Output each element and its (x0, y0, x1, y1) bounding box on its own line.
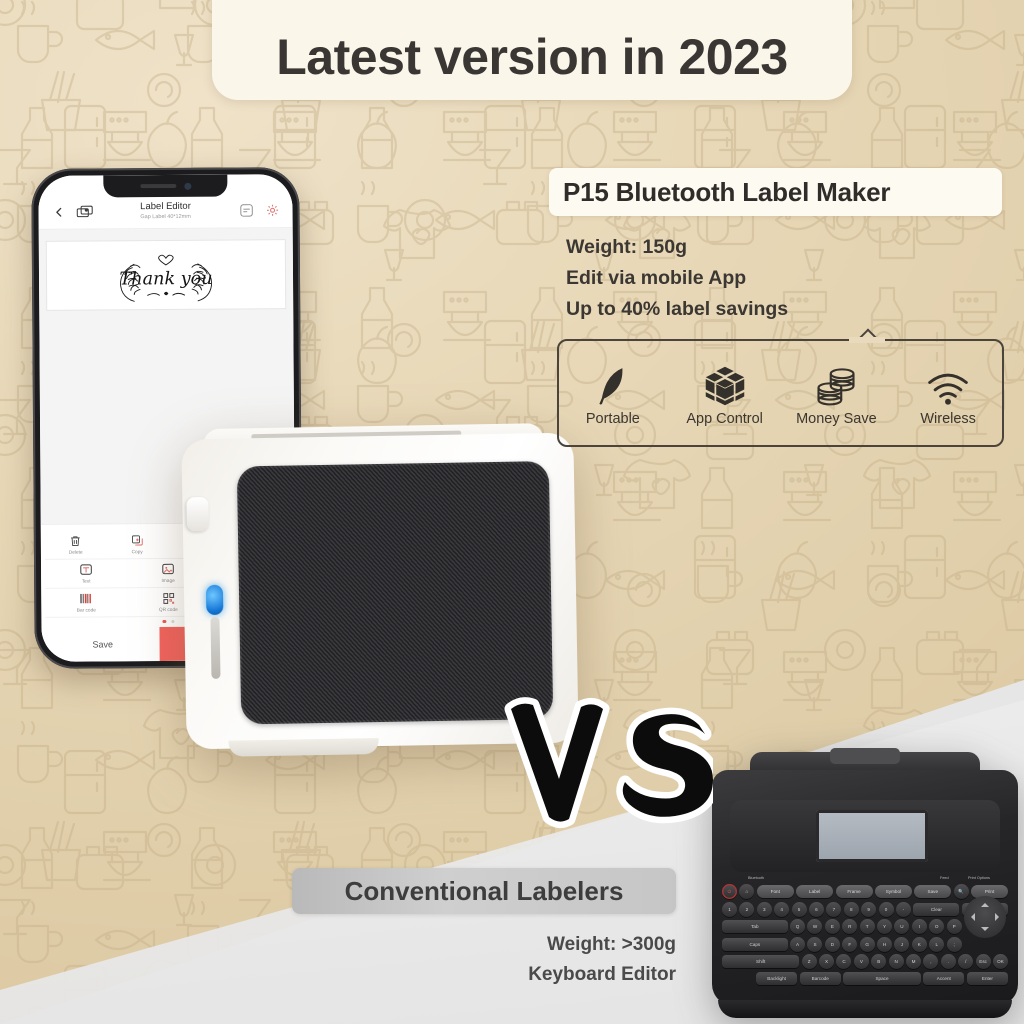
key-caps[interactable]: Caps (722, 938, 788, 951)
template-icon[interactable] (236, 200, 256, 220)
conventional-title-banner: Conventional Labelers (292, 868, 676, 914)
product-title-banner: P15 Bluetooth Label Maker (549, 168, 1002, 216)
printer-side-strip (210, 617, 220, 679)
home-icon[interactable]: ⌂ (739, 884, 754, 899)
printer-power-led-button (206, 585, 224, 615)
key-6[interactable]: 6 (809, 902, 824, 917)
headline-text: Latest version in 2023 (276, 28, 787, 86)
printer-side-latch (186, 497, 209, 531)
page-dot-active[interactable] (162, 620, 166, 624)
labeler-function-row: ⏻ ⌂ Font Label Frame Symbol Save 🔍 Print (722, 884, 1008, 899)
key-frame[interactable]: Frame (836, 885, 873, 898)
key-8[interactable]: 8 (844, 902, 859, 917)
tool-text[interactable]: Text (45, 562, 127, 585)
key-b[interactable]: B (871, 954, 886, 969)
caption-feed: Feed (940, 876, 949, 880)
label-preview-card[interactable]: Thank you (47, 240, 285, 310)
barcode-icon (79, 591, 93, 606)
key-clear[interactable]: Clear (913, 903, 959, 916)
tool-label: Copy (132, 550, 143, 555)
key-c[interactable]: C (836, 954, 851, 969)
wifi-icon (926, 359, 970, 407)
key-v[interactable]: V (854, 954, 869, 969)
chevron-left-icon[interactable] (48, 202, 68, 222)
product-spec-item: Edit via mobile App (566, 263, 1006, 294)
key-d[interactable]: D (825, 937, 840, 952)
save-button[interactable]: Save (45, 627, 160, 662)
key-j[interactable]: J (894, 937, 909, 952)
key-barcode[interactable]: Barcode (800, 972, 841, 985)
feature-label: Money Save (796, 411, 877, 427)
tool-label: Delete (69, 550, 83, 555)
labeler-base (718, 1000, 1012, 1018)
labeler-lid-tab (830, 748, 900, 764)
key-semicolon[interactable]: ; (947, 937, 962, 952)
key-f[interactable]: F (842, 937, 857, 952)
earpiece-speaker (140, 184, 176, 188)
tool-copy[interactable]: Copy (106, 532, 168, 554)
conventional-spec-item: Keyboard Editor (292, 960, 676, 990)
key-esc[interactable]: Esc (976, 954, 991, 969)
feature-row: Portable (557, 339, 1004, 447)
key-shift[interactable]: Shift (722, 955, 799, 968)
key-save[interactable]: Save (914, 885, 951, 898)
key-minus[interactable]: - (896, 902, 911, 917)
tool-label: QR code (159, 607, 178, 612)
trash-icon (69, 533, 82, 548)
dpad-icon[interactable] (964, 896, 1006, 938)
qrcode-icon (162, 590, 175, 605)
key-tab[interactable]: Tab (722, 920, 788, 933)
key-space[interactable]: Space (843, 972, 921, 985)
labeler-key-captions: Bluetooth Feed Print Options (722, 876, 1008, 884)
feature-wireless: Wireless (892, 359, 1004, 427)
feature-badge-box: Portable (557, 339, 1004, 447)
key-9[interactable]: 9 (861, 902, 876, 917)
power-icon[interactable]: ⏻ (722, 884, 737, 899)
key-w[interactable]: W (807, 919, 822, 934)
key-i[interactable]: I (912, 919, 927, 934)
app-title-block: Label Editor Gap Label 40*12mm (100, 201, 230, 220)
conventional-spec-item: Weight: >300g (292, 930, 676, 960)
product-spec-list: Weight: 150g Edit via mobile App Up to 4… (566, 232, 1006, 325)
key-a[interactable]: A (790, 937, 805, 952)
label-tape-icon[interactable] (74, 202, 94, 222)
image-icon (161, 561, 175, 576)
caption-bluetooth: Bluetooth (748, 876, 764, 880)
key-font[interactable]: Font (757, 885, 794, 898)
coins-icon (813, 359, 859, 407)
key-label[interactable]: Label (796, 885, 833, 898)
key-4[interactable]: 4 (774, 902, 789, 917)
key-n[interactable]: N (889, 954, 904, 969)
printer-front-panel (237, 461, 553, 724)
dpad-right[interactable] (995, 913, 1003, 921)
key-1[interactable]: 1 (722, 902, 737, 917)
phone-notch (103, 175, 227, 198)
key-q[interactable]: Q (790, 919, 805, 934)
key-s[interactable]: S (807, 937, 822, 952)
labeler-row-z: Shift Z X C V B N M , . / Esc OK (722, 954, 1008, 969)
key-x[interactable]: X (819, 954, 834, 969)
key-r[interactable]: R (842, 919, 857, 934)
key-period[interactable]: . (941, 954, 956, 969)
key-t[interactable]: T (860, 919, 875, 934)
tool-delete[interactable]: Delete (45, 533, 107, 555)
conventional-labeler-image: Bluetooth Feed Print Options ⏻ ⌂ Font La… (712, 752, 1018, 1014)
key-o[interactable]: O (929, 919, 944, 934)
product-title: P15 Bluetooth Label Maker (563, 177, 890, 208)
copy-icon (131, 533, 144, 548)
key-p[interactable]: P (947, 919, 962, 934)
magnifier-icon[interactable]: 🔍 (954, 884, 969, 899)
key-symbol[interactable]: Symbol (875, 885, 912, 898)
label-text: Thank you (119, 269, 212, 290)
printer-base (229, 738, 379, 757)
text-icon (79, 562, 93, 577)
labeler-row-a: Caps A S D F G H J K L ; (722, 937, 1008, 952)
feature-app-control: App Control (669, 359, 781, 427)
dpad-down[interactable] (981, 927, 989, 935)
dpad-up[interactable] (981, 899, 989, 907)
labeler-keyboard: Bluetooth Feed Print Options ⏻ ⌂ Font La… (722, 876, 1008, 1012)
poster-stage: Latest version in 2023 (0, 0, 1024, 1024)
dpad-left[interactable] (967, 913, 975, 921)
front-camera (184, 182, 191, 189)
labeler-row-bottom: Backlight Barcode Space Accent Enter (722, 972, 1008, 985)
key-5[interactable]: 5 (792, 902, 807, 917)
key-e[interactable]: E (825, 919, 840, 934)
headline-banner: Latest version in 2023 (212, 0, 852, 100)
key-comma[interactable]: , (923, 954, 938, 969)
key-m[interactable]: M (906, 954, 921, 969)
key-u[interactable]: U (894, 919, 909, 934)
feature-portable: Portable (557, 359, 669, 427)
labeler-lcd-screen (816, 810, 928, 862)
key-g[interactable]: G (860, 937, 875, 952)
tool-label: Image (161, 578, 174, 583)
key-backlight[interactable]: Backlight (756, 972, 797, 985)
label-artwork: Thank you (82, 246, 250, 303)
product-spec-item: Weight: 150g (566, 232, 1006, 263)
feature-money-save: Money Save (781, 359, 893, 427)
key-slash[interactable]: / (958, 954, 973, 969)
key-h[interactable]: H (877, 937, 892, 952)
labeler-screen-plate (730, 800, 1000, 872)
labeler-body: Bluetooth Feed Print Options ⏻ ⌂ Font La… (712, 770, 1018, 1006)
tool-label: Text (82, 579, 91, 584)
key-3[interactable]: 3 (757, 902, 772, 917)
feature-label: App Control (686, 411, 763, 427)
product-spec-item: Up to 40% label savings (566, 294, 1006, 325)
key-ok[interactable]: OK (993, 954, 1008, 969)
key-0[interactable]: 0 (879, 902, 894, 917)
app-subtitle: Gap Label 40*12mm (101, 213, 231, 220)
key-z[interactable]: Z (802, 954, 817, 969)
tool-barcode[interactable]: Bar code (45, 591, 127, 614)
key-accent[interactable]: Accent (923, 972, 964, 985)
key-enter[interactable]: Enter (967, 972, 1008, 985)
key-y[interactable]: Y (877, 919, 892, 934)
gear-icon[interactable] (262, 200, 282, 220)
caption-print-options: Print Options (968, 876, 990, 880)
page-dot[interactable] (171, 619, 175, 623)
tool-label: Bar code (77, 608, 96, 613)
feather-icon (596, 359, 630, 407)
cube-icon (704, 359, 746, 407)
key-k[interactable]: K (912, 937, 927, 952)
key-7[interactable]: 7 (826, 902, 841, 917)
key-2[interactable]: 2 (739, 902, 754, 917)
versus-graphic: VS (503, 695, 713, 830)
conventional-title: Conventional Labelers (345, 876, 624, 907)
key-l[interactable]: L (929, 937, 944, 952)
app-title: Label Editor (100, 201, 230, 213)
feature-label: Wireless (920, 411, 976, 427)
conventional-spec-list: Weight: >300g Keyboard Editor (292, 930, 676, 990)
feature-label: Portable (586, 411, 640, 427)
